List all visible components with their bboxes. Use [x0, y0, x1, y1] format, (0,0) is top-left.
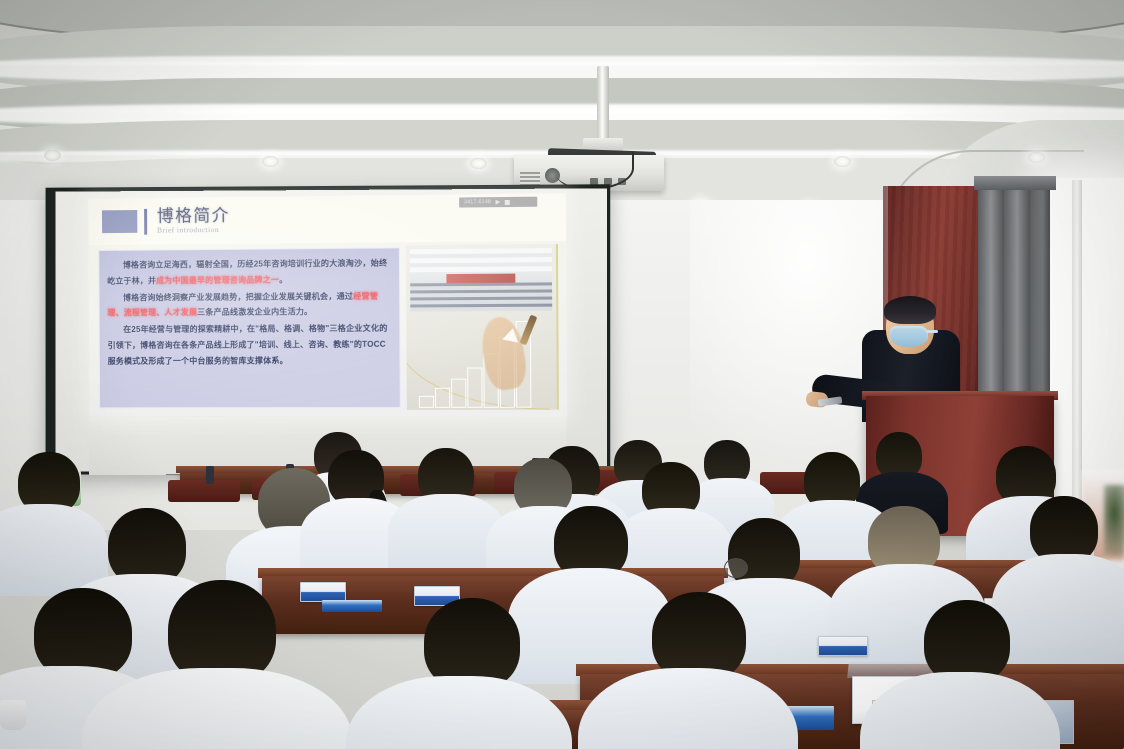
slide-run-text: 在25年经营与管理的探索精耕中，在"格局、格调、格物"三格企业文化的引领下，博格…: [108, 324, 388, 366]
slide-run-text: 博格咨询始终洞察产业发展趋势，把握企业发展关键机会，通过: [123, 291, 353, 301]
slide-paragraph: 博格咨询始终洞察产业发展趋势，把握企业发展关键机会，通过经营管理、流程管理、人才…: [107, 288, 391, 321]
chart-bar: [451, 379, 466, 408]
mask-strap: [926, 330, 938, 333]
slide-run-text: 。: [279, 275, 287, 284]
chart-bar: [435, 388, 450, 408]
chart-bar: [419, 396, 434, 408]
downlight-icon: [262, 156, 279, 167]
slide-subtitle: Brief introduction: [157, 226, 230, 234]
name-card: [300, 582, 346, 602]
downlight-icon: [470, 158, 487, 169]
name-card: [818, 636, 868, 656]
play-icon[interactable]: [495, 200, 500, 205]
chair-headrest: [206, 466, 214, 484]
conference-hall-photo: [410, 248, 552, 311]
chart-bar: [467, 367, 482, 407]
projector-mount-pole: [597, 66, 609, 146]
slide-body-panel: 博格咨询立足海西，辐射全国，历经25年咨询培训行业的大浪淘沙，始终屹立于林，并成…: [98, 247, 401, 408]
surgical-mask-icon: [890, 326, 928, 347]
slide-accent-block-icon: [102, 210, 137, 233]
conference-room-photo: 博格简介 Brief introduction 3417-6148 博格咨询立足…: [0, 0, 1124, 749]
bar-chart-graphic: [416, 321, 550, 408]
downlight-icon: [834, 156, 851, 167]
downlight-icon: [44, 150, 61, 161]
projected-slide: 博格简介 Brief introduction 3417-6148 博格咨询立足…: [88, 193, 567, 416]
curtain-rail: [974, 176, 1056, 190]
paper-cup: [0, 700, 26, 730]
downlight-icon: [1028, 152, 1045, 163]
video-player-toolbar[interactable]: 3417-6148: [459, 197, 537, 208]
blue-folder: [322, 600, 382, 612]
slide-accent-bar-icon: [144, 208, 147, 234]
chair-back: [168, 480, 240, 502]
window-plant: [1104, 485, 1124, 555]
slide-run-highlight: 成为中国最早的管理咨询品牌之一: [156, 275, 279, 285]
volume-icon[interactable]: [504, 199, 509, 204]
slide-paragraph: 在25年经营与管理的探索精耕中，在"格局、格调、格物"三格企业文化的引领下，博格…: [108, 321, 392, 369]
video-timecode: 3417-6148: [464, 199, 491, 205]
slide-media-panel: [406, 244, 559, 410]
speaker-hair: [884, 296, 936, 324]
glasses-icon: [724, 558, 748, 578]
slide-run-text: 三条产品线激发企业内生活力。: [197, 307, 312, 317]
slide-title: 博格简介: [157, 207, 230, 225]
slide-paragraph: 博格咨询立足海西，辐射全国，历经25年咨询培训行业的大浪淘沙，始终屹立于林，并成…: [107, 255, 391, 289]
